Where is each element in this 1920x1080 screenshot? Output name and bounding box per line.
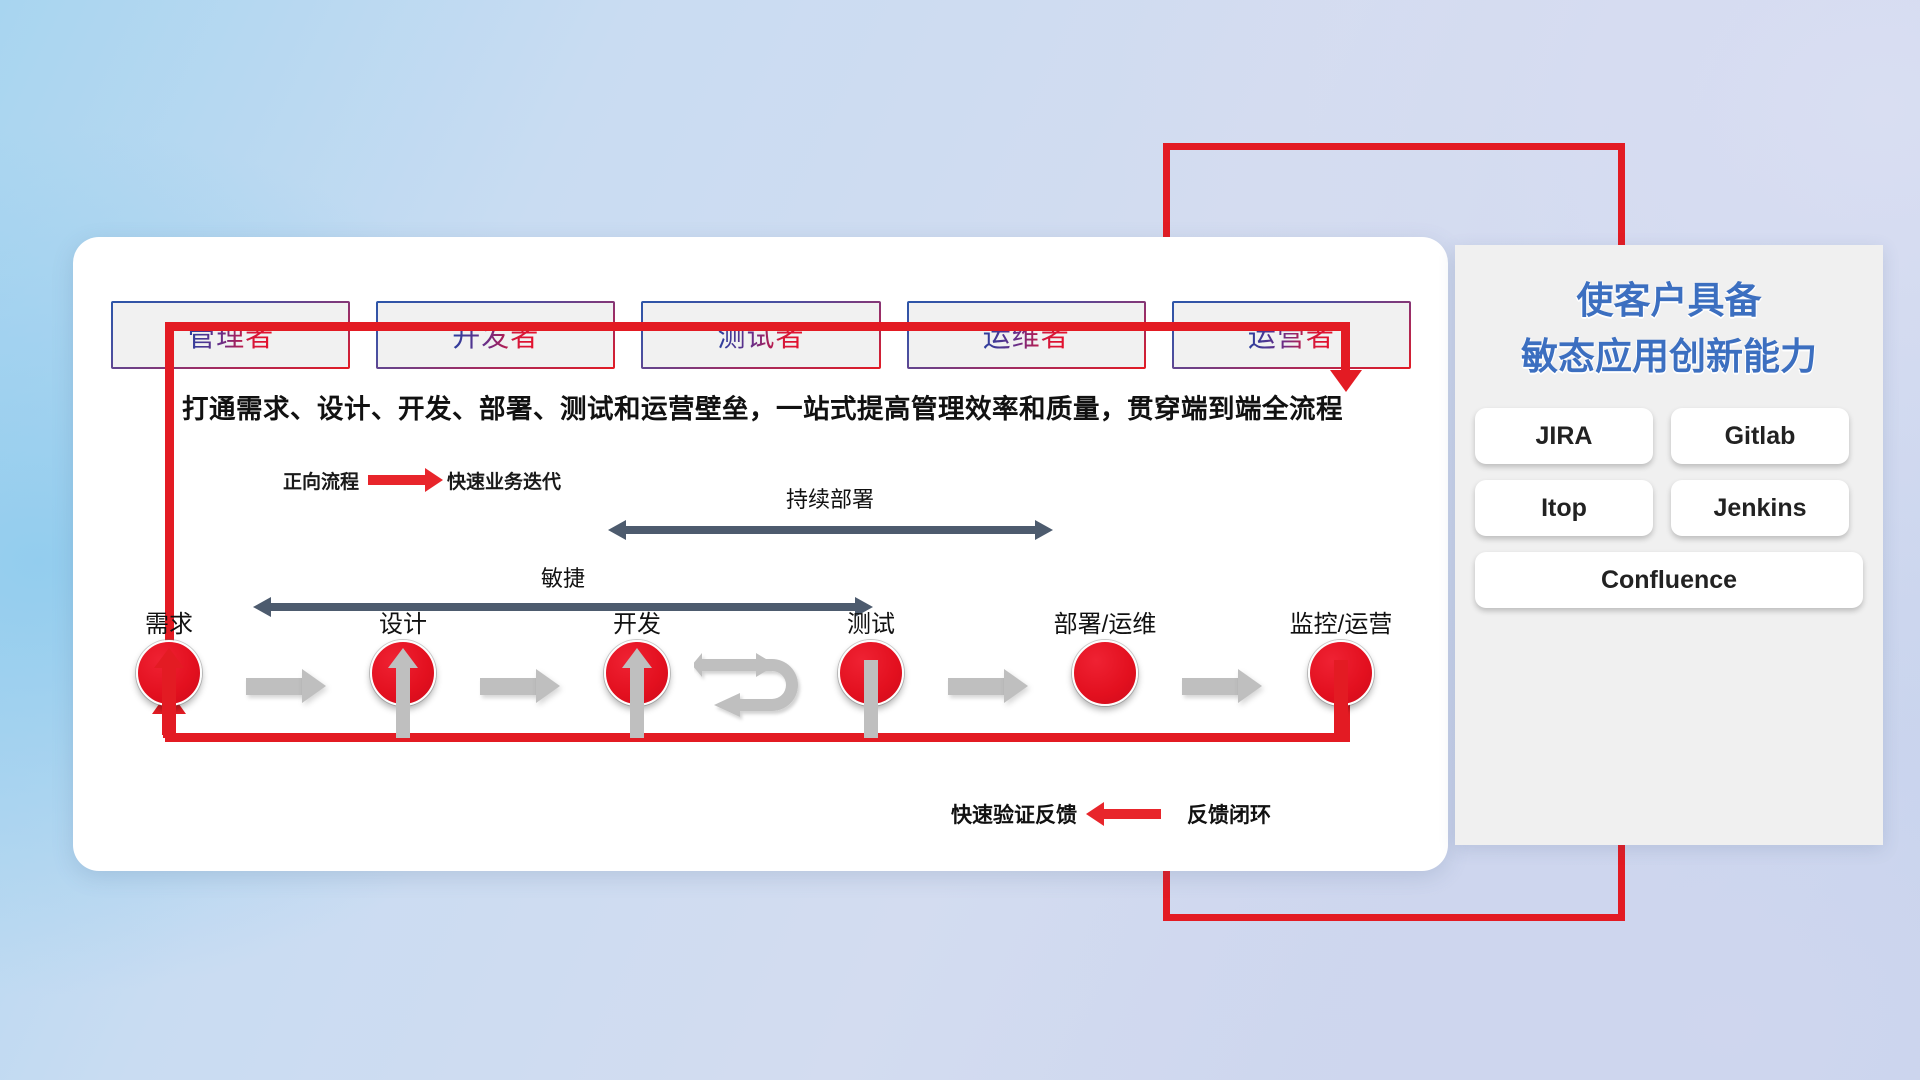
arrow-left-red-icon — [1103, 809, 1161, 819]
stage-label: 开发 — [577, 612, 697, 637]
stage-label: 设计 — [343, 612, 463, 637]
legend-feedback-loop: 快速验证反馈 反馈闭环 — [951, 800, 1271, 828]
stage-label: 部署/运维 — [1015, 612, 1195, 637]
arrow-bar — [246, 678, 302, 695]
pipeline-stage-row: 需求 设计 开发 测试 部署/运维 监控/运营 — [0, 0, 1920, 1080]
feeder-stem-design — [396, 660, 410, 738]
feeder-arrow-requirement-icon — [154, 648, 184, 668]
legend-feedback-from-label: 快速验证反馈 — [951, 799, 1077, 829]
arrow-bar — [480, 678, 536, 695]
feeder-stem-develop — [630, 660, 644, 738]
feeder-stem-requirement — [162, 660, 176, 735]
arrow-bar — [948, 678, 1004, 695]
arrow-head-right-icon — [302, 669, 326, 703]
feeder-arrow-develop-icon — [622, 648, 652, 668]
feeder-stem-monitor — [1334, 660, 1348, 738]
arrow-head-right-icon — [536, 669, 560, 703]
connector-arrow-design-to-develop — [480, 669, 560, 703]
stage-deploy-ops[interactable]: 部署/运维 — [1015, 612, 1195, 706]
connector-arrow-requirement-to-design — [246, 669, 326, 703]
stage-label: 测试 — [811, 612, 931, 637]
stage-label: 监控/运营 — [1241, 612, 1441, 637]
feeder-stem-test — [864, 660, 878, 738]
stage-dot-icon — [1072, 640, 1138, 706]
legend-feedback-to-label: 反馈闭环 — [1187, 799, 1271, 829]
loop-arrow-develop-test-icon — [694, 653, 814, 723]
feeder-arrow-design-icon — [388, 648, 418, 668]
stage-label: 需求 — [109, 612, 229, 637]
